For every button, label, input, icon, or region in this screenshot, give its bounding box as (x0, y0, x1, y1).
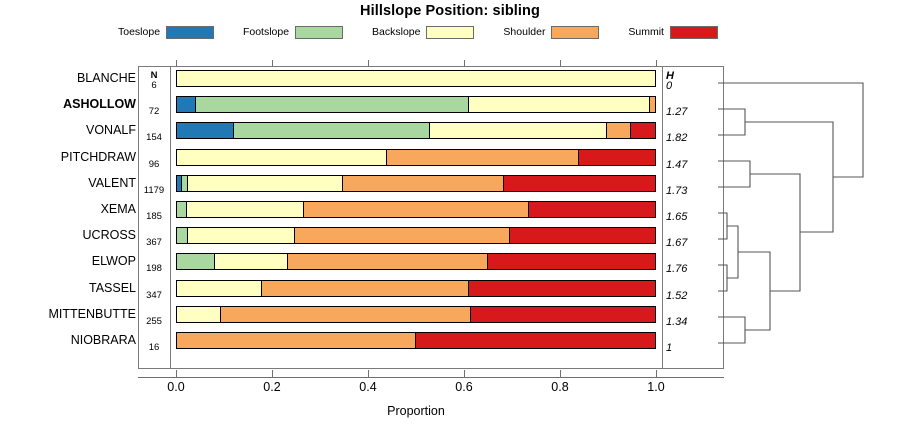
bar-segment-summit (488, 254, 655, 269)
bar-segment-footslope (177, 228, 188, 243)
bar-segment-shoulder (262, 281, 469, 296)
bar-segment-summit (504, 176, 655, 191)
bar-segment-backslope (188, 228, 294, 243)
row-n-value: 255 (140, 317, 168, 327)
row-label-mittenbutte: MITTENBUTTE (0, 301, 136, 327)
bar-segment-shoulder (343, 176, 504, 191)
stacked-bar (176, 306, 656, 323)
axis-tick-top (560, 60, 561, 67)
row-label-vonalf: VONALF (0, 117, 136, 143)
row-h-value: 1.47 (666, 160, 702, 170)
stacked-bar (176, 280, 656, 297)
bar-segment-footslope (177, 202, 187, 217)
axis-tick-label: 0.8 (540, 380, 580, 394)
row-n-value: 16 (140, 343, 168, 353)
row-label-valent: VALENT (0, 170, 136, 196)
axis-tick (272, 370, 273, 378)
stacked-bar (176, 122, 656, 139)
bar-segment-backslope (177, 281, 262, 296)
axis-tick (176, 370, 177, 378)
axis-tick-label: 1.0 (636, 380, 676, 394)
axis-tick-top (272, 60, 273, 67)
bar-segment-shoulder (387, 150, 578, 165)
stacked-bar (176, 332, 656, 349)
dendrogram (700, 66, 900, 369)
row-label-blanche: BLANCHE (0, 65, 136, 91)
row-h-value: 1 (666, 343, 702, 353)
bar-segment-summit (469, 281, 655, 296)
axis-tick-top (464, 60, 465, 67)
row-h-value: 1.34 (666, 317, 702, 327)
axis-tick (464, 370, 465, 378)
bar-segment-backslope (177, 71, 655, 86)
x-axis-line (138, 377, 724, 378)
row-n-value: 72 (140, 107, 168, 117)
bar-segment-footslope (182, 176, 189, 191)
bar-segment-backslope (469, 97, 651, 112)
row-h-value: 0 (666, 81, 702, 91)
stacked-bar (176, 253, 656, 270)
row-label-tassel: TASSEL (0, 275, 136, 301)
bar-segment-backslope (177, 307, 221, 322)
row-h-value: 1.76 (666, 264, 702, 274)
bar-segment-backslope (177, 150, 387, 165)
bar-segment-shoulder (607, 123, 631, 138)
bar-segment-backslope (215, 254, 288, 269)
bar-segment-footslope (234, 123, 430, 138)
row-label-xema: XEMA (0, 196, 136, 222)
bar-segment-backslope (430, 123, 607, 138)
bar-segment-backslope (188, 176, 342, 191)
axis-tick (656, 370, 657, 378)
bar-segment-summit (471, 307, 655, 322)
stacked-bar (176, 227, 656, 244)
row-n-value: 347 (140, 291, 168, 301)
dendrogram-svg (700, 66, 900, 369)
bar-segment-shoulder (288, 254, 488, 269)
row-label-elwop: ELWOP (0, 248, 136, 274)
stacked-bar (176, 70, 656, 87)
row-h-value: 1.73 (666, 186, 702, 196)
row-h-value: 1.67 (666, 238, 702, 248)
bar-segment-shoulder (221, 307, 471, 322)
axis-tick-label: 0.0 (156, 380, 196, 394)
row-label-ucross: UCROSS (0, 222, 136, 248)
bar-segment-backslope (187, 202, 304, 217)
row-n-value: 6 (140, 81, 168, 91)
row-label-niobrara: NIOBRARA (0, 327, 136, 353)
axis-tick-top (176, 60, 177, 67)
axis-tick-label: 0.2 (252, 380, 292, 394)
bar-segment-shoulder (304, 202, 529, 217)
bar-segment-shoulder (295, 228, 510, 243)
row-n-value: 185 (140, 212, 168, 222)
row-n-value: 367 (140, 238, 168, 248)
bar-segment-toeslope (177, 97, 196, 112)
stacked-bar (176, 201, 656, 218)
bar-segment-footslope (196, 97, 468, 112)
row-h-value: 1.52 (666, 291, 702, 301)
stacked-bar (176, 175, 656, 192)
row-h-value: 1.82 (666, 133, 702, 143)
bar-segment-summit (529, 202, 655, 217)
row-n-value: 154 (140, 133, 168, 143)
row-n-value: 1179 (140, 186, 168, 196)
axis-tick-label: 0.4 (348, 380, 388, 394)
row-n-value: 198 (140, 264, 168, 274)
row-label-pitchdraw: PITCHDRAW (0, 144, 136, 170)
axis-tick-top (656, 60, 657, 67)
row-label-ashollow: ASHOLLOW (0, 91, 136, 117)
bar-segment-summit (579, 150, 655, 165)
axis-tick (560, 370, 561, 378)
stacked-bar (176, 96, 656, 113)
axis-tick-top (368, 60, 369, 67)
bar-segment-summit (510, 228, 655, 243)
x-axis-title: Proportion (176, 404, 656, 418)
bar-segment-toeslope (177, 123, 234, 138)
bar-segment-summit (631, 123, 655, 138)
row-h-value: 1.65 (666, 212, 702, 222)
row-n-value: 96 (140, 160, 168, 170)
bar-segment-shoulder (177, 333, 416, 348)
bar-segment-shoulder (650, 97, 655, 112)
axis-tick (368, 370, 369, 378)
stacked-bar (176, 149, 656, 166)
bar-segment-summit (416, 333, 655, 348)
axis-tick-label: 0.6 (444, 380, 484, 394)
bar-segment-footslope (177, 254, 215, 269)
row-h-value: 1.27 (666, 107, 702, 117)
